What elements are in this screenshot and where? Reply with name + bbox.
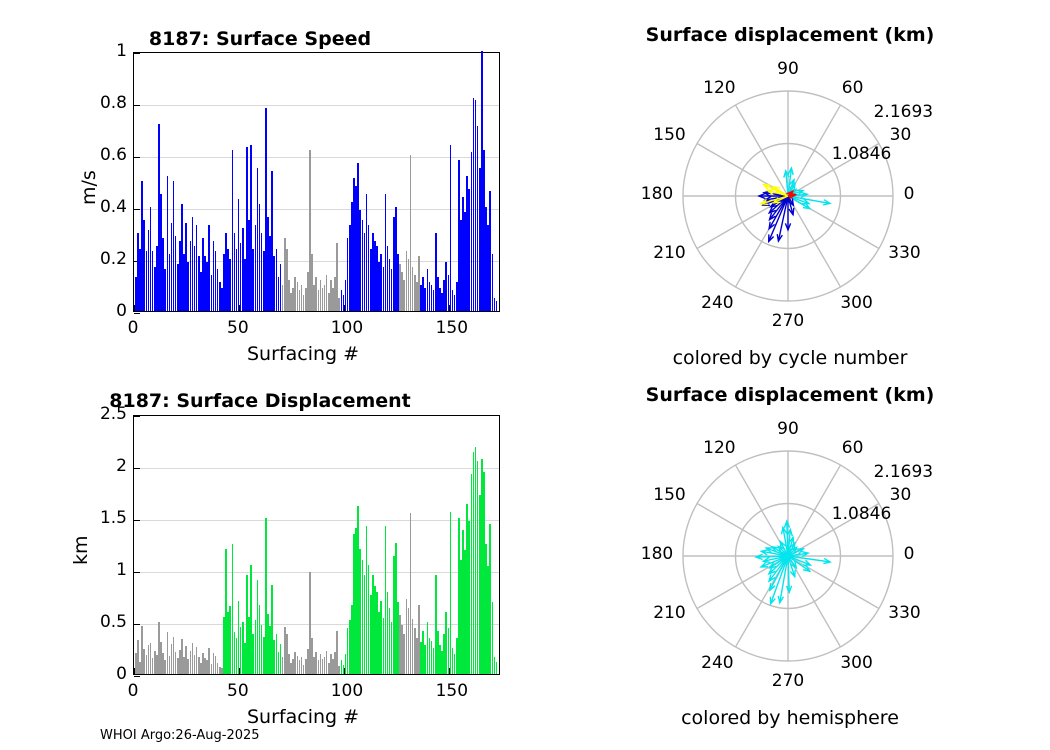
polar-angle-label: 90: [766, 59, 810, 79]
polar-plot-hemisphere: 03060901201501802102402703003301.08462.1…: [570, 408, 1010, 698]
polar-angle-label: 120: [697, 438, 741, 458]
x-tick-label: 0: [121, 681, 145, 701]
page-title-polar-cycle: Surface displacement (km): [530, 24, 1050, 46]
y-tick-label: 1: [67, 41, 127, 61]
x-tick-label: 50: [226, 318, 250, 338]
bar: [496, 662, 498, 674]
displacement-x-axis-label: Surfacing #: [247, 706, 359, 728]
bar: [496, 301, 498, 311]
bar-series: [134, 416, 499, 674]
polar-angle-label: 210: [648, 603, 692, 623]
polar-angle-label: 240: [695, 653, 739, 673]
y-tick-label: 1: [67, 560, 127, 580]
y-tick-mark: [134, 676, 140, 677]
bar-series: [134, 53, 499, 311]
x-tick-label: 0: [121, 318, 145, 338]
polar-angle-label: 30: [879, 485, 923, 505]
bar: [450, 145, 452, 311]
polar-angle-label: 330: [883, 603, 927, 623]
speed-x-axis-label: Surfacing #: [247, 343, 359, 365]
polar-angle-label: 60: [831, 438, 875, 458]
polar-radius-label: 2.1693: [874, 102, 933, 122]
footer-credit: WHOI Argo:26-Aug-2025: [100, 728, 260, 743]
polar-angle-label: 210: [648, 243, 692, 263]
y-tick-label: 0.8: [67, 93, 127, 113]
speed-plot-area: [133, 52, 500, 312]
y-tick-label: 0: [67, 664, 127, 684]
y-tick-label: 1.5: [67, 508, 127, 528]
polar-angle-label: 240: [695, 293, 739, 313]
polar-radius-label: 1.0846: [832, 144, 891, 164]
y-tick-mark: [134, 313, 140, 314]
polar-angle-label: 270: [766, 311, 810, 331]
polar-radius-label: 1.0846: [832, 504, 891, 524]
polar-angle-label: 180: [635, 544, 679, 564]
y-tick-label: 2.5: [67, 404, 127, 424]
x-tick-label: 50: [226, 681, 250, 701]
panel-surface-speed: 8187: Surface Speed m/s Surfacing # 00.2…: [0, 0, 520, 370]
x-tick-label: 100: [331, 318, 355, 338]
polar-angle-label: 150: [648, 485, 692, 505]
polar-cycle-caption: colored by cycle number: [530, 347, 1050, 369]
x-tick-label: 150: [436, 318, 460, 338]
y-tick-label: 0: [67, 301, 127, 321]
displacement-plot-area: [133, 415, 500, 675]
polar-angle-label: 0: [887, 544, 931, 564]
polar-angle-label: 270: [766, 671, 810, 691]
y-tick-label: 2: [67, 456, 127, 476]
polar-angle-label: 30: [879, 125, 923, 145]
polar-radius-label: 2.1693: [874, 462, 933, 482]
polar-angle-label: 300: [835, 653, 879, 673]
polar-angle-label: 150: [648, 125, 692, 145]
polar-plot-cycle: 03060901201501802102402703003301.08462.1…: [570, 48, 1010, 338]
polar-angle-label: 330: [883, 243, 927, 263]
polar-angle-label: 300: [835, 293, 879, 313]
y-tick-label: 0.4: [67, 197, 127, 217]
x-tick-label: 100: [331, 681, 355, 701]
panel-polar-hemisphere: Surface displacement (km) 03060901201501…: [530, 370, 1050, 750]
panel-surface-displacement: 8187: Surface Displacement km Surfacing …: [0, 370, 520, 750]
polar-angle-label: 60: [831, 78, 875, 98]
page-title-polar-hemisphere: Surface displacement (km): [530, 384, 1050, 406]
polar-angle-label: 180: [635, 184, 679, 204]
polar-angle-label: 0: [887, 184, 931, 204]
polar-angle-label: 90: [766, 419, 810, 439]
y-tick-label: 0.5: [67, 612, 127, 632]
polar-hemisphere-caption: colored by hemisphere: [530, 707, 1050, 729]
y-tick-label: 0.2: [67, 249, 127, 269]
panel-polar-cycle: Surface displacement (km) 03060901201501…: [530, 0, 1050, 370]
y-tick-label: 0.6: [67, 145, 127, 165]
x-tick-label: 150: [436, 681, 460, 701]
polar-angle-label: 120: [697, 78, 741, 98]
